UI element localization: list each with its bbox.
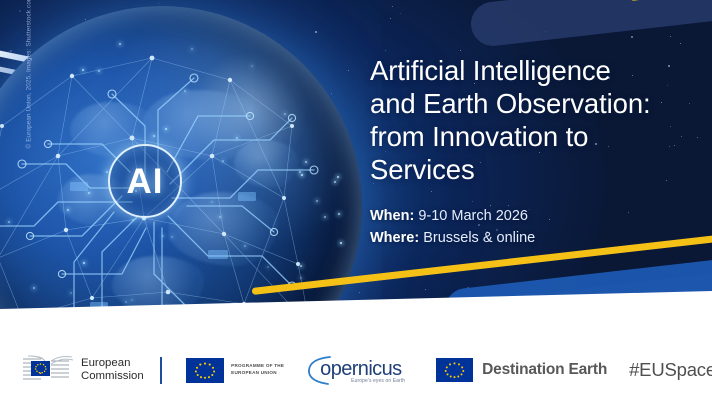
event-title: Artificial Intelligence and Earth Observ… xyxy=(370,54,700,186)
eu-programme-logo: PROGRAMME OF THE EUROPEAN UNION xyxy=(186,358,284,383)
logo-footer: European Commission xyxy=(0,291,712,401)
when-value: 9-10 March 2026 xyxy=(418,208,528,224)
eu-flag-icon xyxy=(436,358,473,382)
event-detail-where: Where: Brussels & online xyxy=(370,227,700,249)
title-line: Services xyxy=(370,153,700,186)
eu-programme-line1: PROGRAMME OF THE xyxy=(231,363,284,370)
ec-wordmark: European Commission xyxy=(81,357,144,384)
ai-badge-label: AI xyxy=(127,164,164,199)
eu-flag-icon xyxy=(186,358,224,383)
title-line: Artificial Intelligence xyxy=(370,54,700,87)
event-details: When: 9-10 March 2026 Where: Brussels & … xyxy=(370,205,700,250)
european-commission-logo: European Commission xyxy=(22,355,162,385)
ec-wordmark-line2: Commission xyxy=(81,370,144,383)
title-line: and Earth Observation: xyxy=(370,87,700,120)
logo-divider xyxy=(160,357,163,384)
when-label: When: xyxy=(370,208,414,224)
ec-flag-fan-icon xyxy=(22,355,74,385)
title-block: Artificial Intelligence and Earth Observ… xyxy=(370,54,700,250)
copernicus-tagline: Europe's eyes on Earth xyxy=(351,378,405,384)
event-banner: AI © European Union, 2025, Images: Shutt… xyxy=(0,0,712,401)
euspace-hashtag: #EUSpace xyxy=(629,359,712,381)
eu-programme-line2: EUROPEAN UNION xyxy=(231,370,284,377)
copernicus-logo: opernicus Europe's eyes on Earth xyxy=(306,354,410,386)
image-credit: © European Union, 2025, Images: Shutters… xyxy=(26,0,33,149)
event-detail-when: When: 9-10 March 2026 xyxy=(370,205,700,227)
destination-earth-logo: Destination Earth xyxy=(436,358,607,382)
ec-wordmark-line1: European xyxy=(81,357,144,370)
title-line: from Innovation to xyxy=(370,120,700,153)
where-label: Where: xyxy=(370,230,419,246)
where-value: Brussels & online xyxy=(423,230,535,246)
destination-earth-wordmark: Destination Earth xyxy=(482,361,607,379)
ai-badge: AI xyxy=(108,144,182,218)
eu-programme-text: PROGRAMME OF THE EUROPEAN UNION xyxy=(231,363,284,376)
